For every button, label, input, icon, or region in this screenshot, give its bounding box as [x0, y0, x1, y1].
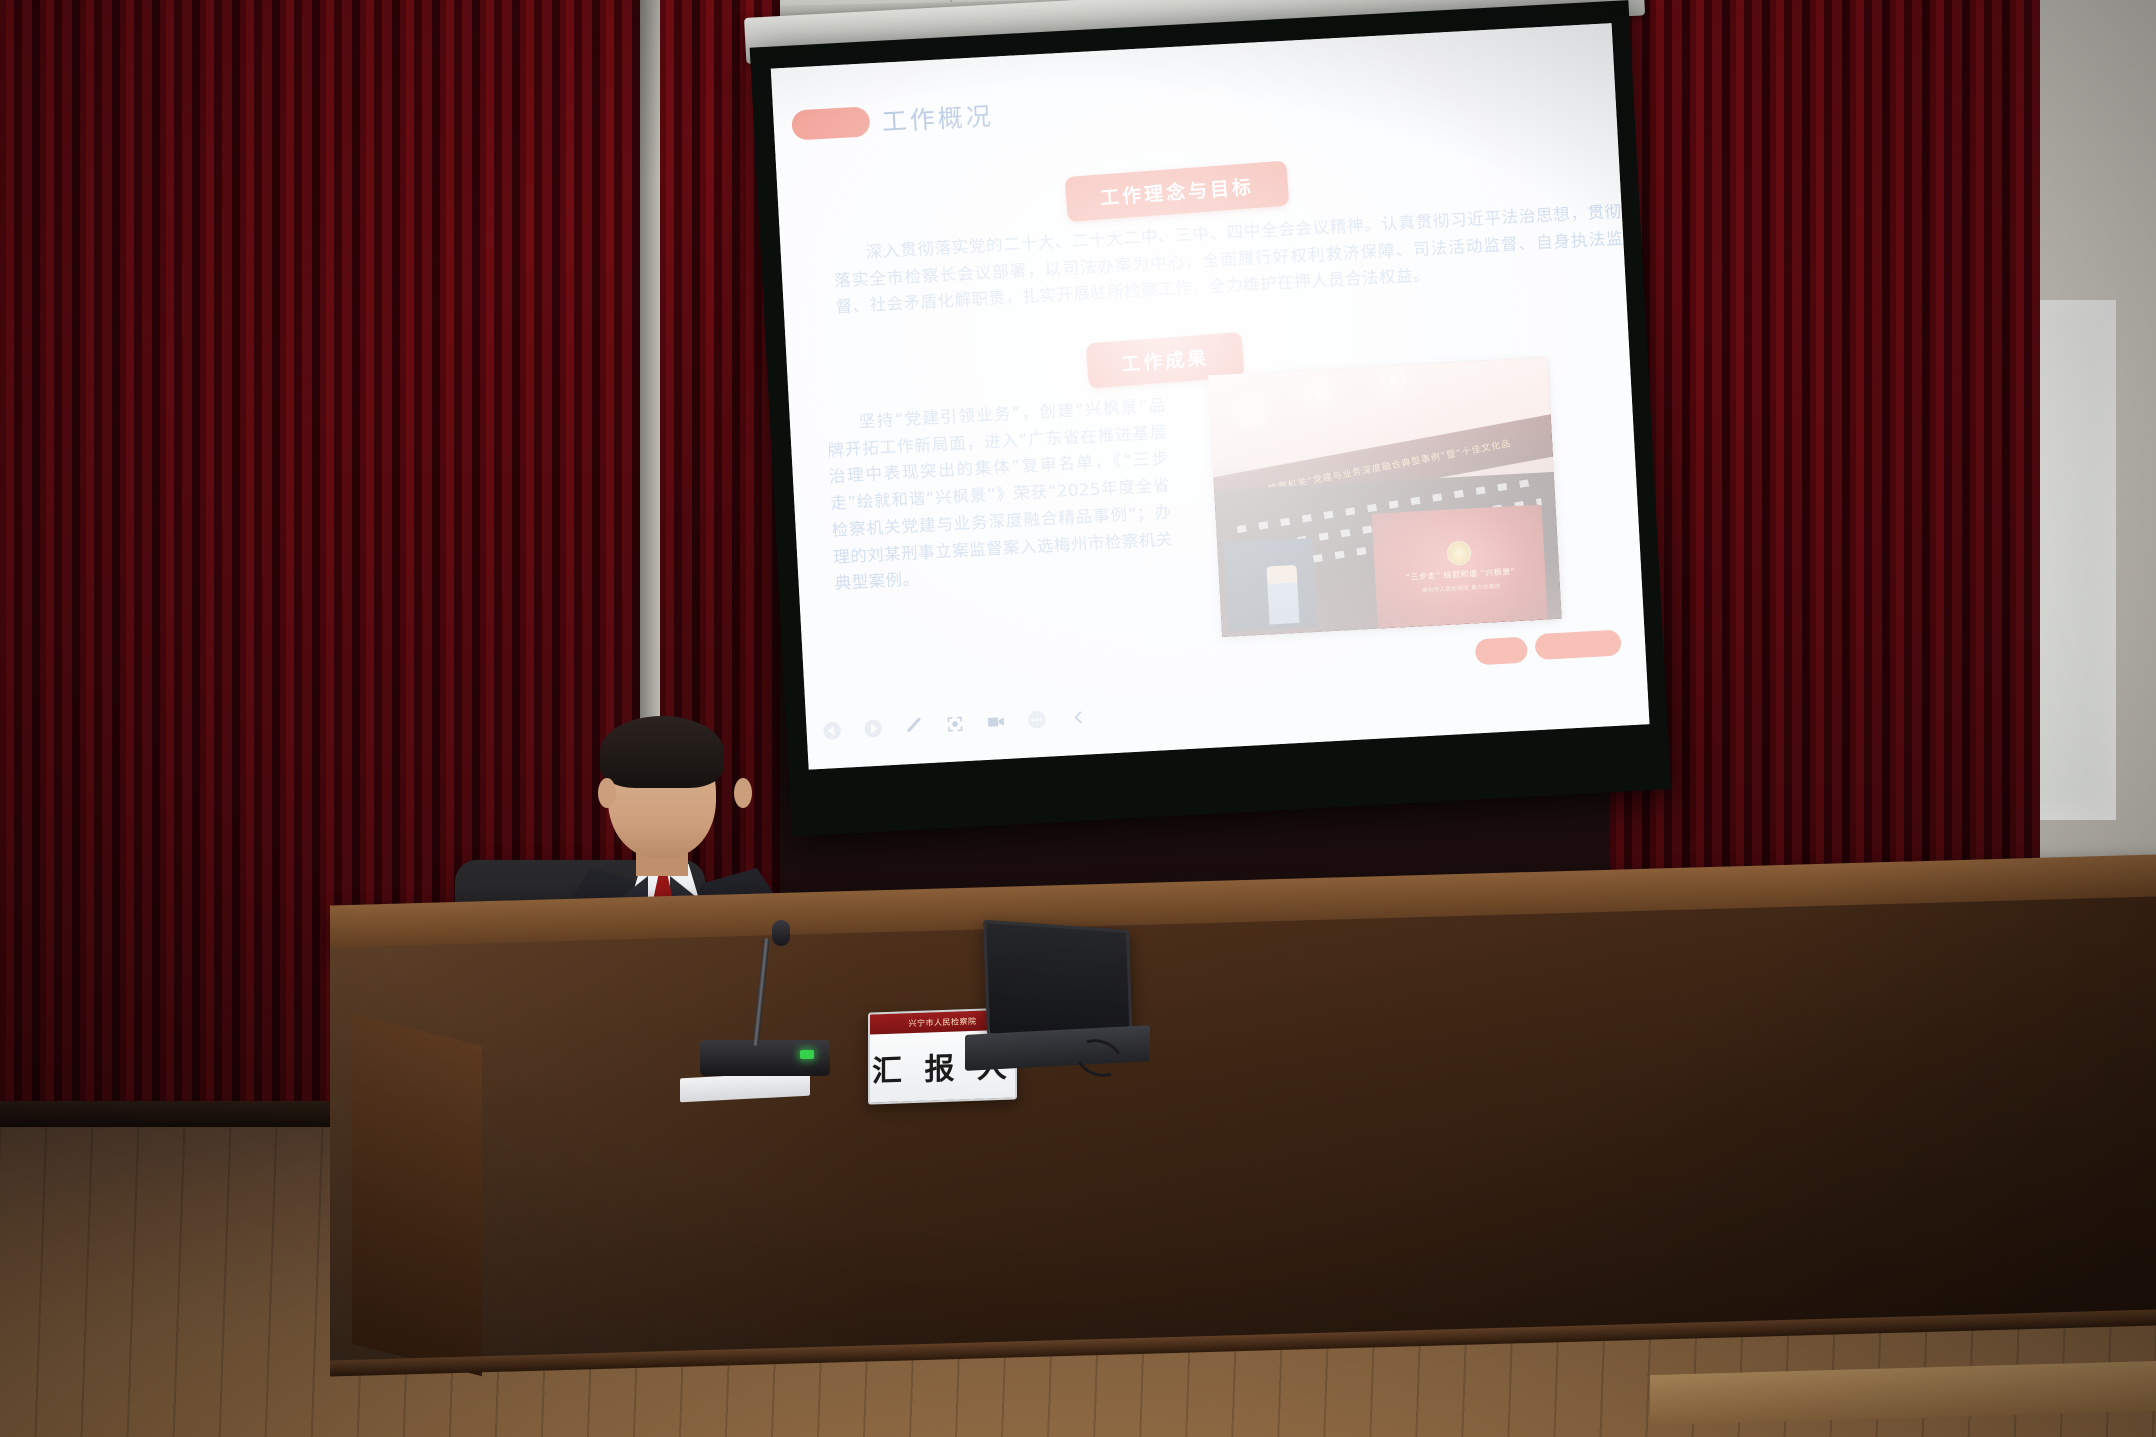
podium-side-panel [352, 1014, 482, 1376]
photo-stage-backdrop: “三步走” 绘就和谐 “兴枫景” 梅州市人民检察院 第六检察部 [1372, 504, 1548, 628]
slide-content: 工作概况 工作理念与目标 深入贯彻落实党的二十大、二十大二中、三中、四中全会会议… [771, 23, 1650, 770]
header-accent-pill [791, 106, 871, 140]
podium-front-panel [330, 896, 2156, 1367]
scene-root: 工作概况 工作理念与目标 深入贯彻落实党的二十大、二十大二中、三中、四中全会会议… [0, 0, 2156, 1437]
speaker-ear [734, 778, 752, 808]
slide-header: 工作概况 [791, 97, 995, 144]
microphone-capsule-icon [772, 920, 790, 946]
section-body-results: 坚持“党建引领业务”，创建“兴枫景”品牌开拓工作新局面，进入“广东省在推进基层治… [825, 393, 1175, 598]
photo-stage-title: “三步走” 绘就和谐 “兴枫景” [1405, 566, 1515, 583]
section-badge-goals: 工作理念与目标 [1065, 161, 1290, 223]
slide-header-title: 工作概况 [881, 97, 995, 139]
speaker-hair [600, 716, 724, 788]
play-slide-icon[interactable] [863, 719, 883, 739]
projection-screen: 工作概况 工作理念与目标 深入贯彻落实党的二十大、二十大二中、三中、四中全会会议… [744, 0, 1688, 857]
speaker-ear [598, 778, 616, 808]
slide-photo: 检察机关“党建与业务深度融合典型事例”暨“十佳文化品 “三步走” 绘就和谐 “兴… [1208, 357, 1562, 637]
decoration-pill [1475, 637, 1528, 666]
pen-annotate-icon[interactable] [904, 716, 924, 736]
screen-surface: 工作概况 工作理念与目标 深入贯彻落实党的二十大、二十大二中、三中、四中全会会议… [771, 23, 1650, 770]
decoration-pill [1534, 630, 1621, 661]
photo-stage-subtitle: 梅州市人民检察院 第六检察部 [1422, 582, 1501, 594]
collapse-chevron-icon[interactable] [1068, 707, 1088, 727]
more-options-icon[interactable] [1027, 710, 1047, 730]
section-body-goals: 深入贯彻落实党的二十大、二十大二中、三中、四中全会会议精神。认真贯彻习近平法治思… [832, 199, 1625, 322]
screen-frame: 工作概况 工作理念与目标 深入贯彻落实党的二十大、二十大二中、三中、四中全会会议… [750, 0, 1671, 836]
procuratorate-emblem-icon [1447, 540, 1472, 565]
slide-toolbar[interactable] [822, 707, 1088, 740]
video-icon[interactable] [986, 712, 1006, 732]
photo-person [1266, 565, 1300, 624]
microphone-status-led [800, 1050, 814, 1059]
laser-pointer-icon[interactable] [945, 714, 965, 734]
